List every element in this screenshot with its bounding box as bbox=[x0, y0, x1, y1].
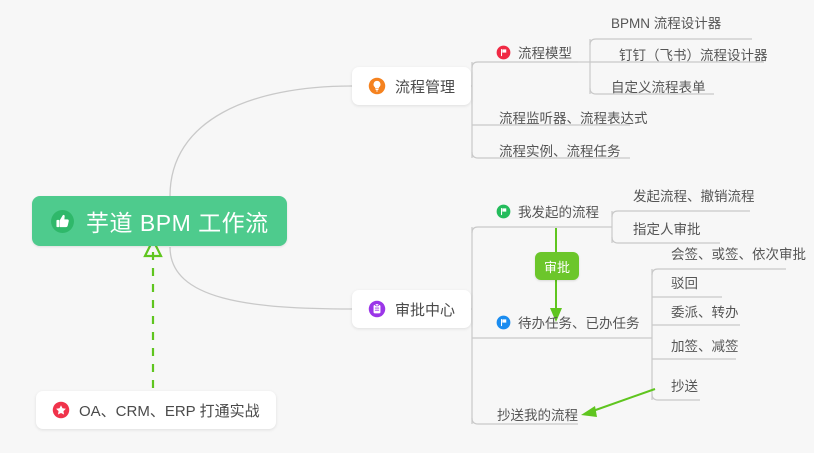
flag-icon bbox=[496, 204, 511, 219]
node-label: 流程实例、流程任务 bbox=[499, 145, 621, 159]
node-label: 流程监听器、流程表达式 bbox=[499, 112, 648, 126]
node-add-remove-sign[interactable]: 加签、减签 bbox=[658, 335, 745, 357]
clipboard-icon bbox=[368, 300, 386, 318]
node-countersign[interactable]: 会签、或签、依次审批 bbox=[658, 243, 812, 265]
node-listener-expression[interactable]: 流程监听器、流程表达式 bbox=[486, 107, 654, 129]
node-process-model[interactable]: 流程模型 bbox=[494, 42, 578, 64]
node-start-cancel-process[interactable]: 发起流程、撤销流程 bbox=[620, 185, 761, 207]
callout-label: 审批 bbox=[544, 257, 570, 276]
node-label: 加签、减签 bbox=[671, 340, 739, 354]
branch-process-management[interactable]: 流程管理 bbox=[352, 67, 471, 105]
node-label: 驳回 bbox=[671, 277, 698, 291]
node-label: 会签、或签、依次审批 bbox=[671, 248, 806, 262]
node-label: 抄送 bbox=[671, 380, 698, 394]
lightbulb-icon bbox=[368, 77, 386, 95]
branch-label: 流程管理 bbox=[395, 76, 455, 97]
flag-icon bbox=[496, 315, 511, 330]
node-custom-form[interactable]: 自定义流程表单 bbox=[598, 76, 712, 98]
node-label: 自定义流程表单 bbox=[611, 81, 706, 95]
card-label: OA、CRM、ERP 打通实战 bbox=[79, 400, 260, 421]
node-reject[interactable]: 驳回 bbox=[658, 272, 704, 294]
branch-label: 审批中心 bbox=[395, 299, 455, 320]
flag-icon bbox=[496, 45, 511, 60]
node-delegate-transfer[interactable]: 委派、转办 bbox=[658, 301, 745, 323]
node-my-started-process[interactable]: 我发起的流程 bbox=[494, 201, 605, 223]
node-label: 委派、转办 bbox=[671, 306, 739, 320]
node-cc-to-me[interactable]: 抄送我的流程 bbox=[484, 404, 584, 426]
node-label: 发起流程、撤销流程 bbox=[633, 190, 755, 204]
node-assigned-approval[interactable]: 指定人审批 bbox=[620, 218, 707, 240]
node-label: 钉钉（飞书）流程设计器 bbox=[619, 49, 768, 63]
root-node[interactable]: 芋道 BPM 工作流 bbox=[32, 196, 287, 246]
star-icon bbox=[52, 401, 70, 419]
node-label: 流程模型 bbox=[518, 47, 572, 61]
node-label: 抄送我的流程 bbox=[497, 409, 578, 423]
node-cc[interactable]: 抄送 bbox=[658, 375, 704, 397]
card-integration-practice[interactable]: OA、CRM、ERP 打通实战 bbox=[36, 391, 276, 429]
callout-approval-badge: 审批 bbox=[535, 252, 579, 280]
root-label: 芋道 BPM 工作流 bbox=[86, 204, 269, 238]
node-label: BPMN 流程设计器 bbox=[611, 17, 721, 31]
node-dingtalk-designer[interactable]: 钉钉（飞书）流程设计器 bbox=[606, 44, 774, 66]
node-label: 我发起的流程 bbox=[518, 206, 599, 220]
node-bpmn-designer[interactable]: BPMN 流程设计器 bbox=[598, 12, 727, 34]
node-todo-done-task[interactable]: 待办任务、已办任务 bbox=[494, 312, 646, 334]
branch-approval-center[interactable]: 审批中心 bbox=[352, 290, 471, 328]
thumbs-up-icon bbox=[50, 209, 75, 234]
mindmap-canvas: 芋道 BPM 工作流 流程管理 流程模型 BPMN 流程设计器 钉钉（飞书）流程 bbox=[0, 0, 814, 453]
node-label: 指定人审批 bbox=[633, 223, 701, 237]
node-label: 待办任务、已办任务 bbox=[518, 317, 640, 331]
node-instance-task[interactable]: 流程实例、流程任务 bbox=[486, 140, 627, 162]
